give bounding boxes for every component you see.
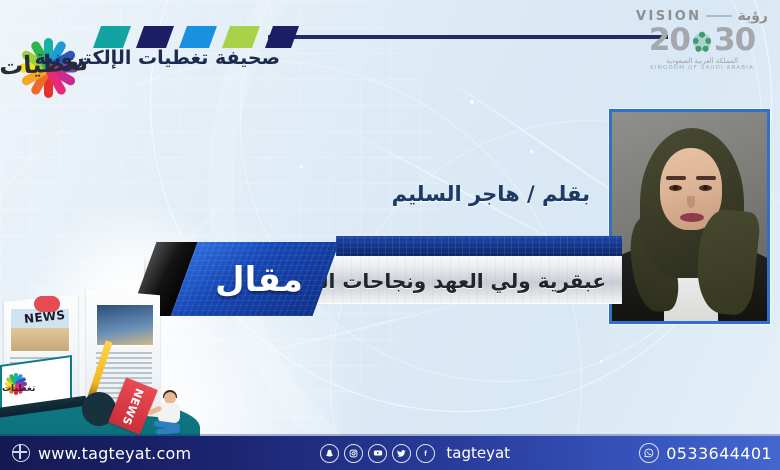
sparkle-dot-5 [300, 165, 303, 168]
article-category-label: مقال [196, 254, 322, 306]
footer-social-links[interactable]: tagteyat [320, 444, 510, 463]
person-body [158, 403, 180, 423]
illustration-figure-top-shape [34, 296, 60, 312]
vision-kingdom-en: KINGDOM OF SAUDI ARABIA [636, 65, 768, 71]
instagram-icon[interactable] [344, 444, 363, 463]
laptop-logo-wordmark: تغطيات [2, 384, 35, 394]
illustration-figure-top [26, 296, 66, 326]
sparkle-dot-2 [530, 150, 533, 153]
globe-icon [12, 444, 30, 462]
site-logo[interactable]: تغطيات [6, 4, 90, 84]
footer-bar: www.tagteyat.com tagteyat 05 [0, 436, 780, 470]
vision-year-left: 20 [649, 22, 690, 58]
paper-name: صحيفة تغطيات الإلكترونية [35, 47, 280, 69]
portrait-pupil-right [703, 185, 708, 190]
portrait-brow-right [696, 176, 716, 180]
saudi-vision-palm-icon [689, 29, 715, 55]
sparkle-dot-1 [470, 100, 474, 104]
header-divider [268, 35, 668, 39]
youtube-icon[interactable] [368, 444, 387, 463]
footer-phone-number: 0533644401 [666, 444, 772, 463]
title-bar-top-band [336, 236, 622, 258]
author-byline: بقلم / هاجر السليم [392, 182, 590, 206]
portrait-brow-left [666, 176, 686, 180]
laptop-logo-flower-icon [4, 364, 26, 386]
footer-website-url: www.tagteyat.com [38, 444, 191, 463]
illustration-person [146, 392, 188, 438]
footer-whatsapp[interactable]: 0533644401 [639, 443, 772, 463]
sparkle-dot-4 [600, 360, 603, 363]
vision-year-right: 30 [714, 22, 755, 58]
banner-canvas: تغطيات صحيفة تغطيات الإلكترونية VISION ر… [0, 0, 780, 470]
article-title-bar: عبقرية ولي العهد ونجاحات المملكة مقال [144, 236, 622, 320]
facebook-icon[interactable] [416, 444, 435, 463]
vision-rule [706, 15, 732, 17]
whatsapp-icon [639, 443, 659, 463]
snapchat-icon[interactable] [320, 444, 339, 463]
vision-kingdom-ar: المملكة العربية السعودية [636, 57, 768, 65]
footer-website[interactable]: www.tagteyat.com [12, 444, 191, 463]
portrait-nose [687, 196, 695, 208]
footer-social-handle: tagteyat [446, 444, 510, 462]
news-tag-label: NEWS [121, 386, 146, 422]
news-illustration: NEWS تغطيات NEWS [0, 296, 196, 442]
twitter-icon[interactable] [392, 444, 411, 463]
portrait-pupil-left [673, 185, 678, 190]
vision-2030-logo: VISION رؤية 2030 المملكة العربية السعودي… [636, 8, 768, 70]
author-portrait [609, 109, 770, 324]
vision-year: 2030 [636, 25, 768, 55]
portrait-lips [680, 213, 704, 222]
